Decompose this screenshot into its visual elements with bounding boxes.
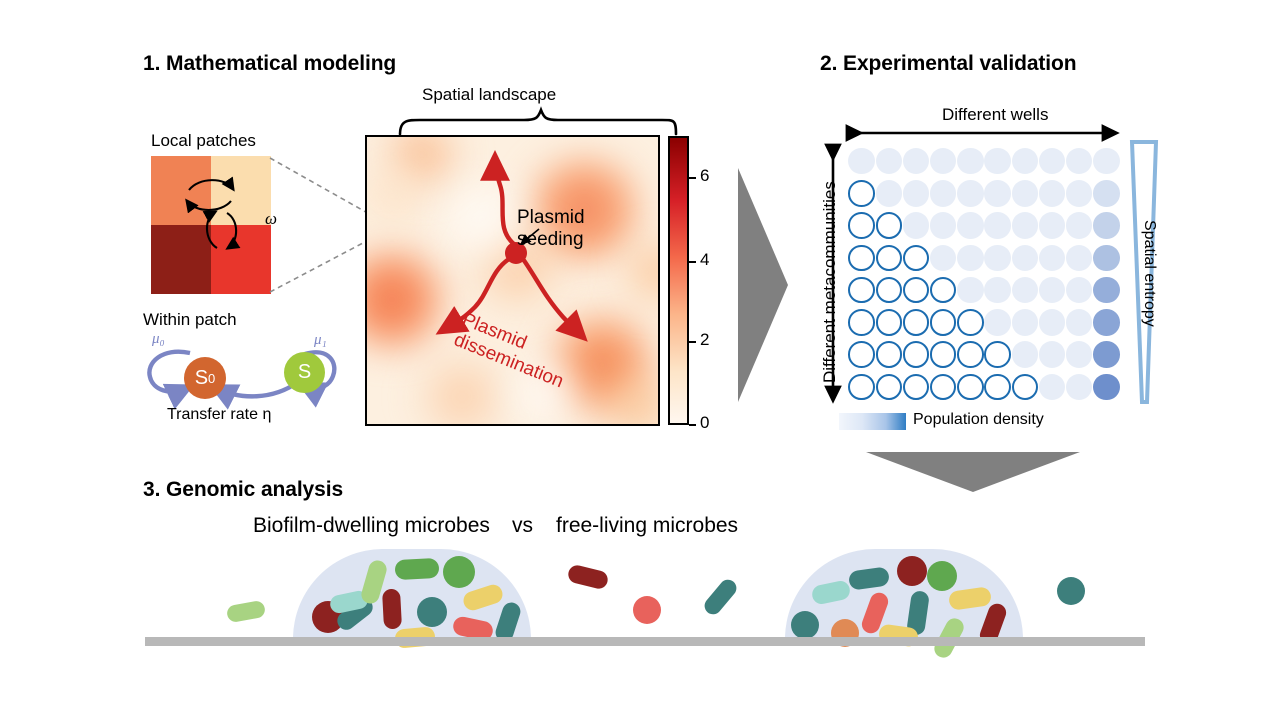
microbe-layer [0,0,1270,714]
microbe-rod [810,579,851,605]
microbe-rod [382,589,402,630]
microbe-coccus [897,556,927,586]
figure-canvas: 1. Mathematical modeling Local patches ω… [0,0,1270,714]
microbe-coccus [417,597,447,627]
microbe-rod [395,558,440,580]
microbe-rod [948,586,992,611]
microbe-rod [226,600,266,623]
microbe-coccus [633,596,661,624]
microbe-coccus [443,556,475,588]
microbe-rod [701,576,740,618]
microbe-coccus [791,611,819,639]
microbe-coccus [1057,577,1085,605]
microbe-rod [566,563,609,590]
substrate-surface [145,637,1145,646]
microbe-rod [461,582,505,612]
microbe-rod [848,566,890,590]
microbe-coccus [927,561,957,591]
